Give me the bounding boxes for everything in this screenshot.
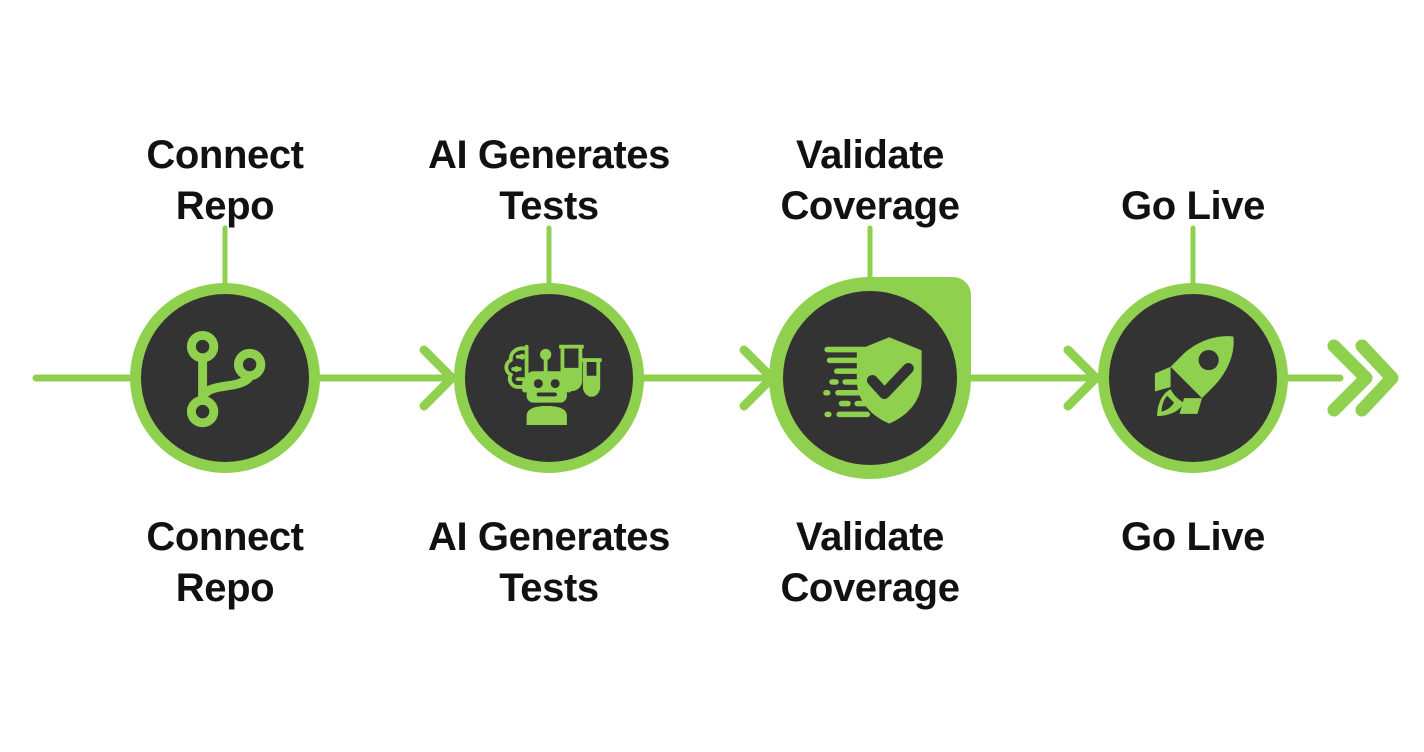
step-label-top-validate-coverage: Validate Coverage (720, 130, 1020, 232)
step-node-connect-repo[interactable] (130, 283, 320, 473)
process-flow-diagram: Connect Repo Connec (0, 0, 1424, 752)
step-label-bottom-go-live: Go Live (1043, 512, 1343, 563)
step-label-bottom-validate-coverage: Validate Coverage (720, 512, 1020, 614)
flow-step-ai-generates-tests[interactable]: AI Generates Tests (399, 0, 699, 752)
step-label-top-go-live: Go Live (1043, 181, 1343, 232)
step-label-bottom-connect-repo: Connect Repo (75, 512, 375, 614)
rocket-icon (1137, 322, 1249, 434)
flow-step-go-live[interactable]: Go Live (1043, 0, 1343, 752)
git-branch-icon (169, 322, 281, 434)
ai-robot-test-tubes-icon (493, 322, 605, 434)
step-label-top-ai-generates-tests: AI Generates Tests (399, 130, 699, 232)
step-label-top-connect-repo: Connect Repo (75, 130, 375, 232)
step-label-bottom-ai-generates-tests: AI Generates Tests (399, 512, 699, 614)
flow-step-validate-coverage[interactable]: Validate Coverage (720, 0, 1020, 752)
step-node-go-live[interactable] (1098, 283, 1288, 473)
flow-steps: Connect Repo Connec (0, 0, 1424, 752)
flow-step-connect-repo[interactable]: Connect Repo Connec (75, 0, 375, 752)
step-node-validate-coverage[interactable] (775, 283, 965, 473)
step-node-ai-generates-tests[interactable] (454, 283, 644, 473)
shield-check-code-icon (810, 318, 930, 438)
